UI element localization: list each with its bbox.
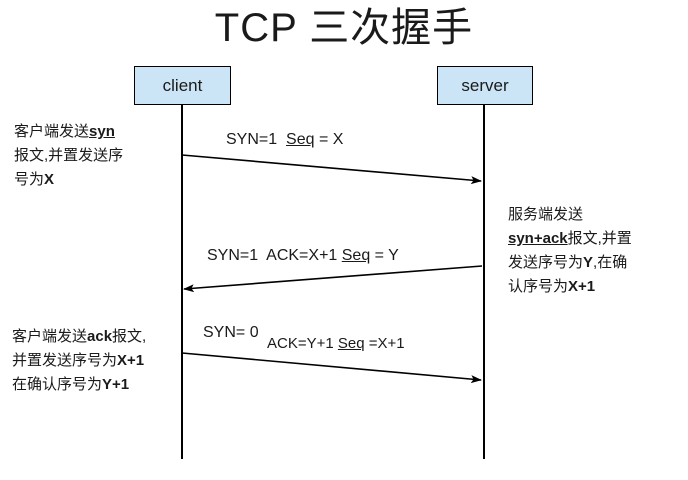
note-server-synack: 服务端发送 syn+ack报文,并置 发送序号为Y,在确 认序号为X+1 — [508, 203, 632, 299]
note-client-syn: 客户端发送syn 报文,并置发送序 号为X — [14, 120, 123, 192]
lifeline-server — [483, 104, 485, 459]
lifeline-client — [181, 104, 183, 459]
page-title: TCP 三次握手 — [0, 2, 688, 54]
message-label-msg3-syn: SYN= 0 — [203, 324, 259, 342]
participant-label-server: server — [461, 76, 508, 96]
message-label-msg2: SYN=1 ACK=X+1 Seq = Y — [207, 247, 399, 265]
participant-box-server[interactable]: server — [437, 66, 533, 105]
message-label-msg3-ack: ACK=Y+1 Seq =X+1 — [267, 335, 405, 352]
participant-label-client: client — [163, 76, 203, 96]
message-arrow-msg3 — [182, 353, 481, 380]
message-arrow-msg1 — [182, 155, 481, 181]
participant-box-client[interactable]: client — [134, 66, 231, 105]
note-client-ack: 客户端发送ack报文, 并置发送序号为X+1 在确认序号为Y+1 — [12, 325, 146, 397]
message-label-msg1: SYN=1 Seq = X — [226, 131, 343, 149]
message-arrow-msg2 — [184, 266, 482, 289]
tcp-handshake-diagram: TCP 三次握手 client server SYN=1 Seq = X SYN… — [0, 0, 688, 480]
